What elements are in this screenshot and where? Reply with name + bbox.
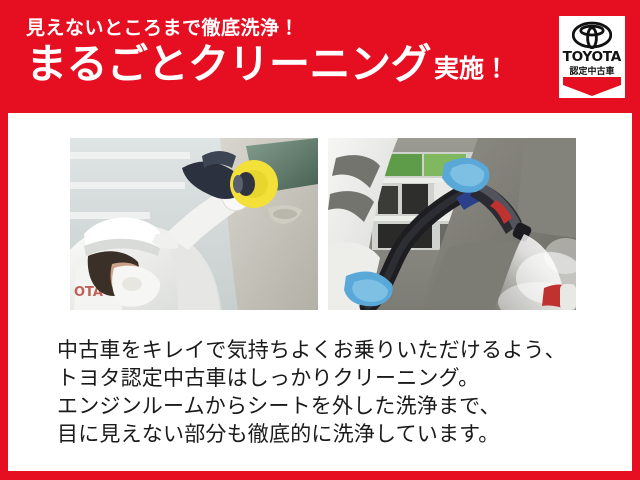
- body-copy-line: 目に見えない部分も徹底的に洗浄しています。: [57, 420, 597, 448]
- header-headline-main: まるごとクリーニング: [26, 42, 431, 86]
- body-copy-line: エンジンルームからシートを外した洗浄まで、: [57, 392, 597, 420]
- badge-brand-text: TOYOTA: [563, 51, 621, 64]
- photo-exterior-polishing-art: OTA: [70, 138, 318, 310]
- badge-chevron-banner: [559, 76, 625, 98]
- header-headline-row: まるごとクリーニング 実施！: [26, 42, 526, 86]
- header-text-group: 見えないところまで徹底洗浄！ まるごとクリーニング 実施！: [26, 18, 526, 86]
- toyota-emblem-icon: [572, 21, 612, 49]
- body-copy-block: 中古車をキレイで気持ちよくお乗りいただけるよう、 トヨタ認定中古車はしっかりクリ…: [57, 336, 597, 448]
- header-band: 見えないところまで徹底洗浄！ まるごとクリーニング 実施！ TOYOTA 認定中…: [0, 0, 640, 113]
- toyota-certified-badge: TOYOTA 認定中古車: [559, 16, 625, 98]
- header-tagline: 見えないところまで徹底洗浄！: [26, 18, 526, 40]
- photo-seat-steam-cleaning-art: [328, 138, 576, 310]
- body-copy-line: 中古車をキレイで気持ちよくお乗りいただけるよう、: [57, 336, 597, 364]
- header-headline-suffix: 実施！: [434, 49, 509, 85]
- frame-bottom-border: [0, 471, 640, 480]
- photo-exterior-polishing: OTA: [70, 138, 318, 310]
- body-copy-line: トヨタ認定中古車はしっかりクリーニング。: [57, 364, 597, 392]
- photo-seat-steam-cleaning: [328, 138, 576, 310]
- promotional-banner: 見えないところまで徹底洗浄！ まるごとクリーニング 実施！ TOYOTA 認定中…: [0, 0, 640, 480]
